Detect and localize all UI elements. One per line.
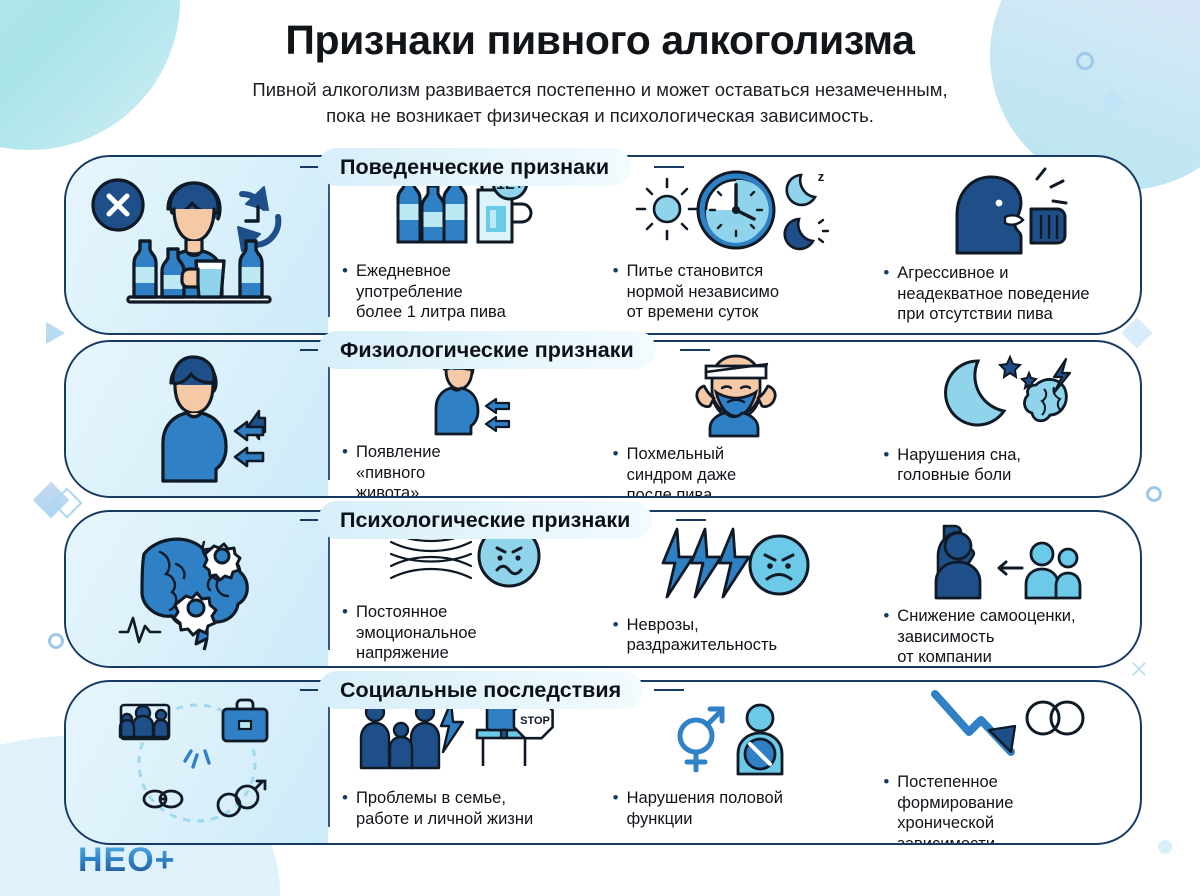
- decor-ring-right: [1146, 486, 1162, 502]
- section-heading-behavioral: Поведенческие признаки: [318, 148, 631, 186]
- page-header: Признаки пивного алкоголизма Пивной алко…: [0, 18, 1200, 130]
- bullet-icon: •: [613, 615, 619, 656]
- decor-diamond-left-a: [33, 482, 70, 519]
- bullet-icon: •: [342, 788, 348, 829]
- item-text-sleep-disorder: • Нарушения сна, головные боли: [883, 445, 1130, 486]
- sun-clock-moon-icon: z: [613, 165, 860, 255]
- item-text-aggressive-behavior: • Агрессивное и неадекватное поведение п…: [883, 263, 1130, 325]
- item-label: Агрессивное и неадекватное поведение при…: [897, 263, 1089, 325]
- item-text-low-self-esteem: • Снижение самооценки, зависимость от ко…: [883, 606, 1130, 668]
- item-text-hangover: • Похмельный синдром даже после пива: [613, 444, 860, 498]
- bullet-icon: •: [342, 261, 348, 323]
- gender-symbols-blocked-person-icon: [613, 690, 860, 782]
- page-title: Признаки пивного алкоголизма: [0, 18, 1200, 63]
- item-text-beer-belly: • Появление «пивного живота»: [342, 442, 589, 498]
- hero-broken-chain-family-work: [66, 682, 328, 843]
- bullet-icon: •: [883, 772, 889, 845]
- item-text-chronic-dependence: • Постепенное формирование хронической з…: [883, 772, 1130, 845]
- hero-man-with-beer-belly: [66, 342, 328, 496]
- brand-logo: НЕО+: [78, 841, 176, 880]
- hero-brain-with-gears: [66, 512, 328, 666]
- bullet-icon: •: [613, 788, 619, 829]
- chip-rule-right-behavioral: [654, 166, 684, 168]
- item-aggressive-behavior: • Агрессивное и неадекватное поведение п…: [869, 157, 1140, 333]
- item-text-daily-consumption: • Ежедневное употребление более 1 литра …: [342, 261, 589, 323]
- item-sleep-disorder: • Нарушения сна, головные боли: [869, 342, 1140, 496]
- page-subtitle-line-2: пока не возникает физическая и психологи…: [0, 103, 1200, 129]
- item-low-self-esteem: • Снижение самооценки, зависимость от ко…: [869, 512, 1140, 666]
- section-heading-physiological: Физиологические признаки: [318, 331, 656, 369]
- item-label: Неврозы, раздражительность: [627, 615, 778, 656]
- downward-arrow-chain-links-icon: [883, 690, 1130, 766]
- item-chronic-dependence: • Постепенное формирование хронической з…: [869, 682, 1140, 843]
- item-label: Ежедневное употребление более 1 литра пи…: [356, 261, 506, 323]
- item-label: Питье становится нормой независимо от вр…: [627, 261, 779, 323]
- badge-stop: STOP: [520, 715, 550, 727]
- bullet-icon: •: [342, 442, 348, 498]
- infographic-page: Признаки пивного алкоголизма Пивной алко…: [0, 0, 1200, 896]
- item-label: Нарушения половой функции: [627, 788, 783, 829]
- item-label: Появление «пивного живота»: [356, 442, 441, 498]
- page-subtitle: Пивной алкоголизм развивается постепенно…: [0, 77, 1200, 130]
- section-heading-social: Социальные последствия: [318, 671, 643, 709]
- shouting-head-with-fist-icon: [883, 165, 1130, 257]
- item-text-emotional-tension: • Постоянное эмоциональное напряжение: [342, 602, 589, 664]
- page-subtitle-line-1: Пивной алкоголизм развивается постепенно…: [0, 77, 1200, 103]
- item-label: Постепенное формирование хронической зав…: [897, 772, 1013, 845]
- section-heading-psychological: Психологические признаки: [318, 501, 652, 539]
- item-text-drinking-anytime: • Питье становится нормой независимо от …: [613, 261, 860, 323]
- hero-man-with-beer-bottles: [66, 157, 328, 333]
- decor-ring-left: [48, 633, 64, 649]
- badge-z: z: [818, 169, 825, 184]
- item-text-family-problems: • Проблемы в семье, работе и личной жизн…: [342, 788, 589, 829]
- moon-stars-brain-lightning-icon: [883, 350, 1130, 439]
- item-label: Нарушения сна, головные боли: [897, 445, 1021, 486]
- bullet-icon: •: [342, 602, 348, 664]
- item-sexual-dysfunction: • Нарушения половой функции: [599, 682, 870, 843]
- lightning-angry-face-icon: [613, 520, 860, 609]
- bullet-icon: •: [883, 606, 889, 668]
- decor-dot-bottom-right: [1158, 840, 1172, 854]
- chip-rule-right-social: [654, 689, 684, 691]
- item-label: Похмельный синдром даже после пива: [627, 444, 737, 498]
- chip-rule-right-psychological: [676, 519, 706, 521]
- item-label: Проблемы в семье, работе и личной жизни: [356, 788, 533, 829]
- item-label: Постоянное эмоциональное напряжение: [356, 602, 477, 664]
- bullet-icon: •: [883, 445, 889, 486]
- item-text-sexual-dysfunction: • Нарушения половой функции: [613, 788, 860, 829]
- decor-triangle-left: [46, 322, 65, 344]
- bullet-icon: •: [613, 444, 619, 498]
- chip-rule-right-physiological: [680, 349, 710, 351]
- bullet-icon: •: [883, 263, 889, 325]
- thumbs-down-person-group-icon: [883, 520, 1130, 600]
- bullet-icon: •: [613, 261, 619, 323]
- item-label: Снижение самооценки, зависимость от комп…: [897, 606, 1075, 668]
- item-drinking-anytime: z • Питье становится нормой независимо: [599, 157, 870, 333]
- item-text-neuroses: • Неврозы, раздражительность: [613, 615, 860, 656]
